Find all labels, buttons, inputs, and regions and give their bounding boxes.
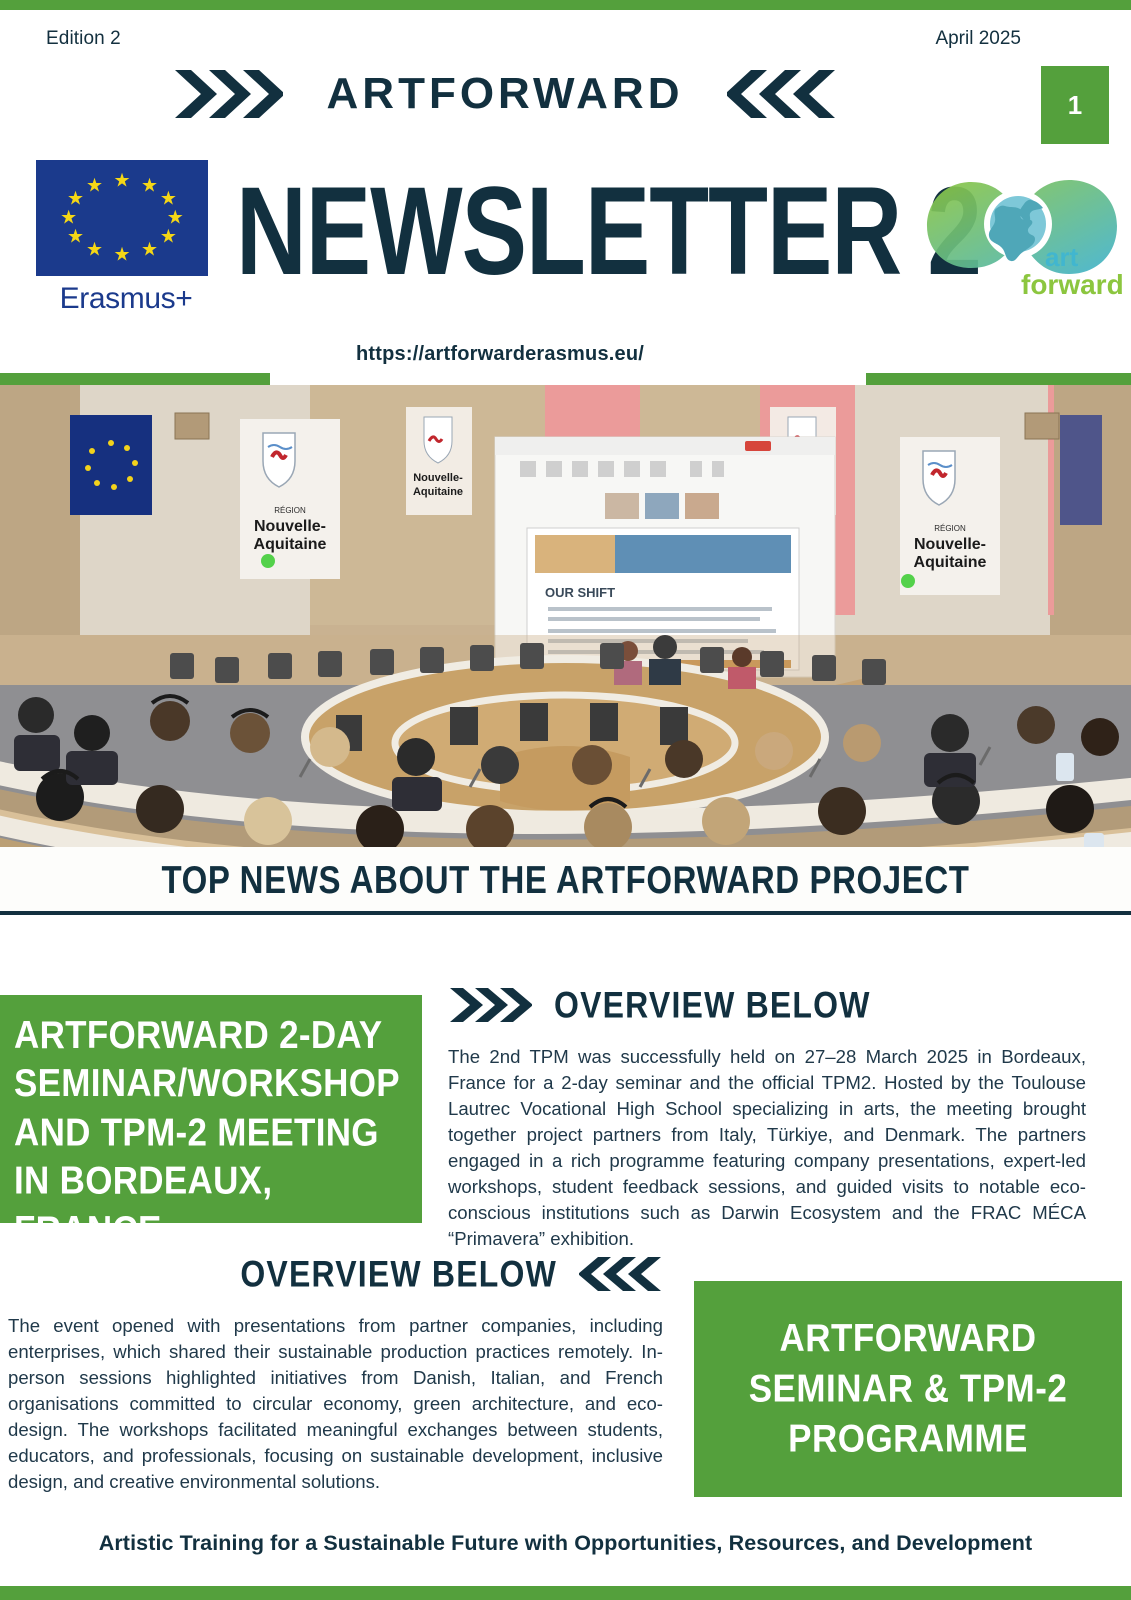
article-2-section-head: OVERVIEW BELOW [8,1254,663,1294]
svg-text:forward: forward [1021,269,1124,300]
article-2-headline-line: ARTFORWARD [749,1314,1068,1364]
article-1-headline-line: AND TPM-2 MEETING [14,1108,408,1157]
artforward-globe-logo-icon: art forward [913,160,1127,300]
article-2-headline-line: SEMINAR & TPM-2 [749,1364,1068,1414]
section-divider [0,911,1131,915]
svg-text:OUR SHIFT: OUR SHIFT [545,585,615,600]
svg-text:Nouvelle-: Nouvelle- [413,472,463,484]
article-1-body-column: OVERVIEW BELOW The 2nd TPM was successfu… [448,985,1086,1271]
svg-text:Nouvelle-: Nouvelle- [914,536,986,553]
brand-title: ARTFORWARD [327,69,684,119]
masthead: Edition 2 April 2025 1 ARTFORWARD [0,10,1131,370]
chevrons-left-icon [579,1254,663,1294]
section-banner: TOP NEWS ABOUT THE ARTFORWARD PROJECT [0,847,1131,913]
article-2-headline-line: PROGRAMME [749,1414,1068,1464]
article-2-headline-card: ARTFORWARD SEMINAR & TPM-2 PROGRAMME [694,1281,1122,1497]
article-2-body-text: The event opened with presentations from… [8,1313,663,1496]
edition-label: Edition 2 [46,28,121,50]
top-green-rule [0,0,1131,10]
svg-text:Aquitaine: Aquitaine [413,486,463,498]
svg-text:art: art [1045,242,1079,272]
svg-text:Aquitaine: Aquitaine [254,536,327,553]
chevrons-right-icon [173,66,283,122]
chevrons-right-icon [448,985,532,1025]
article-1-headline-line: ARTFORWARD 2-DAY [14,1011,408,1060]
bottom-green-rule [0,1586,1131,1600]
article-2-body-column: OVERVIEW BELOW The event opened with pre… [8,1254,663,1514]
footer-tagline: Artistic Training for a Sustainable Futu… [0,1531,1131,1556]
section-banner-text: TOP NEWS ABOUT THE ARTFORWARD PROJECT [161,858,969,903]
brand-line: ARTFORWARD [0,66,1010,122]
svg-text:Aquitaine: Aquitaine [914,554,987,571]
page-number-badge: 1 [1041,66,1109,144]
eu-flag-icon: ★ ★ ★ ★ ★ ★ ★ ★ ★ ★ ★ ★ [36,160,208,276]
article-1-body-text: The 2nd TPM was successfully held on 27–… [448,1044,1086,1253]
issue-date-label: April 2025 [935,28,1021,50]
website-url[interactable]: https://artforwarderasmus.eu/ [0,343,1000,366]
page-title: NEWSLETTER 2 [236,168,896,293]
article-1-headline-line: SEMINAR/WORKSHOP [14,1060,408,1109]
chevrons-left-icon [727,66,837,122]
article-1-section-title: OVERVIEW BELOW [554,984,871,1027]
svg-text:RÉGION: RÉGION [934,524,966,533]
svg-text:Nouvelle-: Nouvelle- [254,518,326,535]
erasmus-logo: ★ ★ ★ ★ ★ ★ ★ ★ ★ ★ ★ ★ Erasmus+ [36,160,216,316]
svg-text:RÉGION: RÉGION [274,506,306,515]
article-1-headline-line: IN BORDEAUX, FRANCE [14,1157,408,1254]
article-1-headline-card: ARTFORWARD 2-DAY SEMINAR/WORKSHOP AND TP… [0,995,422,1223]
hero-photo: RÉGION Nouvelle- Aquitaine Nouvelle- Aqu… [0,385,1131,847]
article-1-section-head: OVERVIEW BELOW [448,985,1086,1025]
erasmus-wordmark: Erasmus+ [36,282,216,316]
article-2-section-title: OVERVIEW BELOW [240,1253,557,1296]
